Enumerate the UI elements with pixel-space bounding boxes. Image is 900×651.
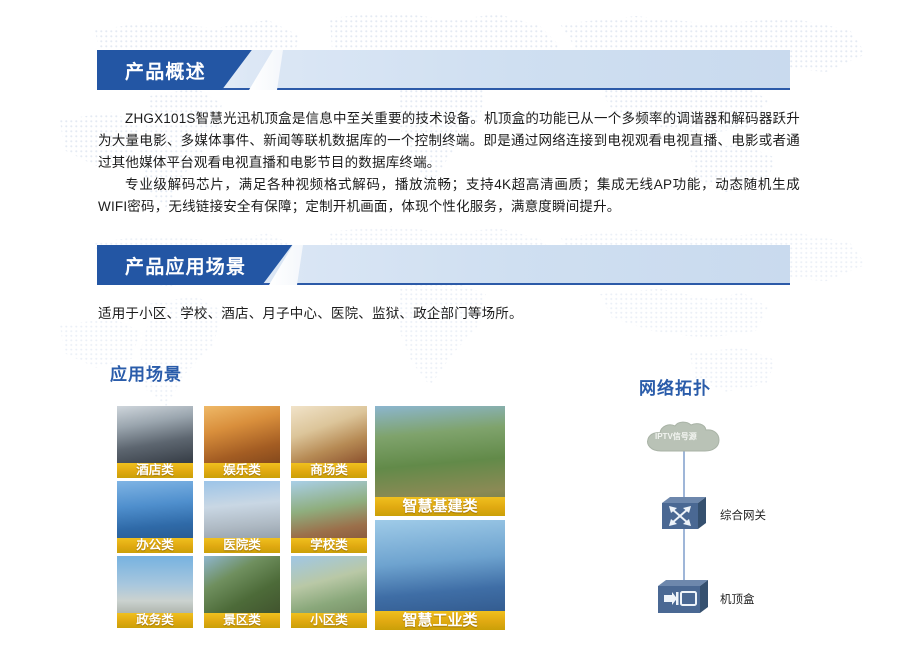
scenario-tile[interactable]: 学校类 [291,481,367,553]
scenario-tile-caption: 医院类 [204,538,280,553]
scenario-tile-caption: 学校类 [291,538,367,553]
network-topology-diagram: IPTV信号源 综合网关 [640,405,880,635]
scenario-tile[interactable]: 智慧基建类 [375,406,505,516]
scenario-tile[interactable]: 医院类 [204,481,280,553]
switch-icon [662,495,706,531]
topology-node-stb[interactable] [658,577,710,615]
set-top-box-icon [658,577,710,615]
scenario-tile[interactable]: 景区类 [204,556,280,628]
overview-paragraph-2: 专业级解码芯片，满足各种视频格式解码，播放流畅；支持4K超高清画质；集成无线AP… [98,174,800,218]
scenario-tile[interactable]: 办公类 [117,481,193,553]
scenario-tile-caption: 商场类 [291,463,367,478]
scenario-tile-caption: 智慧基建类 [375,497,505,516]
scenario-tile-caption: 办公类 [117,538,193,553]
banner-tab: 产品应用场景 [97,245,292,285]
scenario-tile-caption: 政务类 [117,613,193,628]
scenario-section-title: 应用场景 [110,360,182,385]
scenario-tile-caption: 智慧工业类 [375,611,505,630]
topology-node-source[interactable]: IPTV信号源 [643,421,725,455]
overview-paragraph-1: ZHGX101S智慧光迅机顶盒是信息中至关重要的技术设备。机顶盒的功能已从一个多… [98,108,800,174]
application-paragraph-1: 适用于小区、学校、酒店、月子中心、医院、监狱、政企部门等场所。 [98,303,800,325]
topology-node-gateway-label: 综合网关 [720,507,766,523]
banner-title: 产品概述 [125,57,206,84]
scenario-tile-caption: 娱乐类 [204,463,280,478]
scenario-tile[interactable]: 娱乐类 [204,406,280,478]
scenario-tile[interactable]: 政务类 [117,556,193,628]
scenario-tile-caption: 酒店类 [117,463,193,478]
topology-node-gateway[interactable] [662,495,706,531]
scenario-tile[interactable]: 酒店类 [117,406,193,478]
scenario-tile[interactable]: 商场类 [291,406,367,478]
topology-section-title: 网络拓扑 [639,374,711,399]
topology-node-stb-label: 机顶盒 [720,591,755,607]
scenario-tile[interactable]: 智慧工业类 [375,520,505,630]
scenario-grid: 酒店类娱乐类商场类办公类医院类学校类政务类景区类小区类智慧基建类智慧工业类 [117,406,507,631]
banner-title: 产品应用场景 [125,252,246,279]
scenario-tile-caption: 小区类 [291,613,367,628]
topology-node-source-label: IPTV信号源 [655,431,697,442]
scenario-tile-caption: 景区类 [204,613,280,628]
section-banner-product-overview: 产品概述 [97,50,790,90]
scenario-tile[interactable]: 小区类 [291,556,367,628]
section-banner-application-scenes: 产品应用场景 [97,245,790,285]
link-gateway-stb [683,529,685,581]
